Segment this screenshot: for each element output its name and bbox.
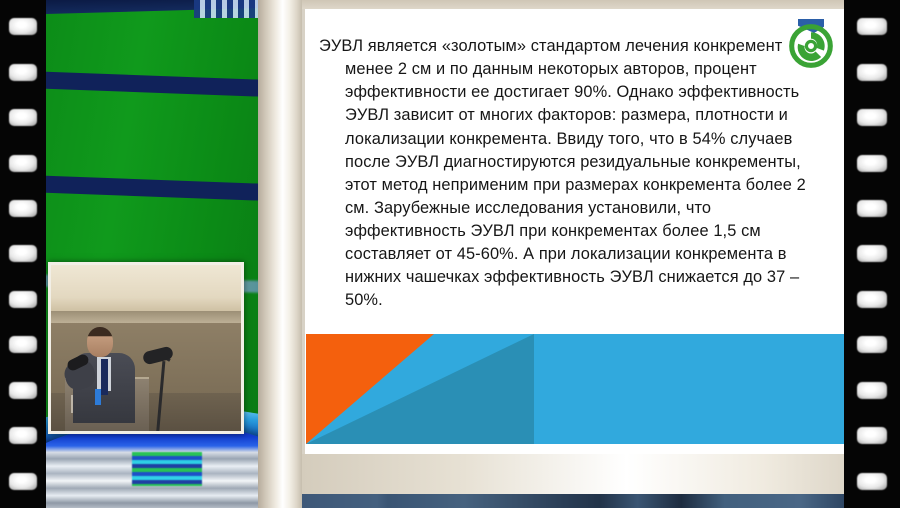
sprocket-hole <box>9 245 37 262</box>
green-circular-emblem-logo <box>788 23 834 69</box>
sprocket-hole <box>857 382 887 399</box>
sprocket-hole <box>857 18 887 35</box>
sprocket-hole <box>9 64 37 81</box>
sprocket-hole <box>857 473 887 490</box>
sprocket-hole <box>857 64 887 81</box>
desk-led-accent <box>132 452 202 486</box>
studio-column-divider <box>258 0 302 508</box>
sprocket-hole <box>9 473 37 490</box>
filmstrip-left-border <box>0 0 46 508</box>
slide-text-remaining: менее 2 см и по данным некоторых авторов… <box>345 58 826 312</box>
conference-room-wall <box>51 265 241 311</box>
slide-decoration-shapes <box>306 334 844 444</box>
wall-shadow <box>51 311 241 323</box>
sprocket-hole <box>9 109 37 126</box>
speaker-head <box>87 327 113 357</box>
slide-bottom-band <box>301 454 844 494</box>
presentation-slide-panel: ЭУВЛ является «золотым» стандартом лечен… <box>296 0 844 508</box>
speaker-inset-video[interactable] <box>48 262 244 434</box>
speaker-badge <box>95 389 101 405</box>
sprocket-hole <box>857 245 887 262</box>
speaker-tie <box>101 359 108 395</box>
slide-top-strip <box>296 0 844 9</box>
sprocket-hole <box>857 200 887 217</box>
sprocket-hole <box>9 155 37 172</box>
slide-body-text: ЭУВЛ является «золотым» стандартом лечен… <box>319 35 826 313</box>
sprocket-hole <box>9 200 37 217</box>
sprocket-hole <box>9 18 37 35</box>
presentation-slide: ЭУВЛ является «золотым» стандартом лечен… <box>301 9 844 454</box>
sprocket-hole <box>9 427 37 444</box>
sprocket-hole <box>9 336 37 353</box>
slide-bottom-dark-strip <box>301 494 844 508</box>
studio-light-strip <box>194 0 264 18</box>
sprocket-hole <box>857 427 887 444</box>
filmstrip-right-border <box>844 0 900 508</box>
sprocket-hole <box>857 336 887 353</box>
sprocket-hole <box>857 109 887 126</box>
slide-text-first-line: ЭУВЛ является «золотым» стандартом лечен… <box>319 37 782 55</box>
sprocket-hole <box>857 291 887 308</box>
sprocket-hole <box>9 382 37 399</box>
sprocket-hole <box>9 291 37 308</box>
video-player-screen: ЭУВЛ является «золотым» стандартом лечен… <box>0 0 900 508</box>
sprocket-hole <box>857 155 887 172</box>
